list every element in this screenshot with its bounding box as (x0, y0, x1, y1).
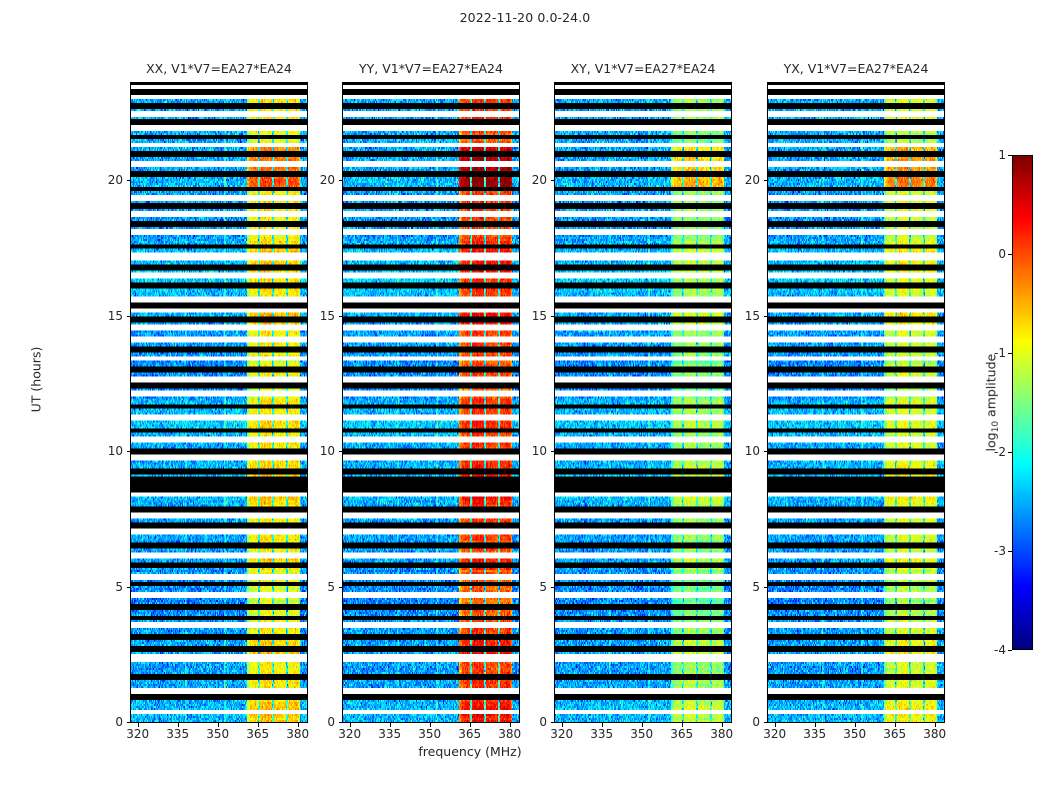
y-tick-label: 20 (727, 173, 760, 187)
y-tick-mark (764, 180, 768, 181)
y-tick-label: 10 (302, 444, 335, 458)
x-axis-label: frequency (MHz) (0, 744, 940, 759)
figure-canvas: 2022-11-20 0.0-24.0 XX, V1*V7=EA27*EA24 … (0, 0, 1050, 800)
waterfall-panel-yx[interactable] (767, 82, 945, 723)
x-tick-label: 350 (418, 727, 441, 741)
colorbar-tick-label: -3 (972, 544, 1006, 558)
y-tick-mark (551, 180, 555, 181)
y-tick-mark (551, 587, 555, 588)
colorbar-tick-mark (1008, 452, 1012, 453)
colorbar-tick-label: 0 (972, 247, 1006, 261)
y-tick-mark (764, 451, 768, 452)
x-tick-label: 320 (763, 727, 786, 741)
x-tick-label: 365 (883, 727, 906, 741)
y-tick-mark (127, 180, 131, 181)
y-tick-label: 5 (90, 580, 123, 594)
y-tick-label: 0 (727, 715, 760, 729)
x-tick-label: 335 (378, 727, 401, 741)
y-tick-label: 10 (514, 444, 547, 458)
x-tick-label: 335 (166, 727, 189, 741)
colorbar-tick-mark (1008, 650, 1012, 651)
y-tick-mark (127, 587, 131, 588)
panel-title-yx: YX, V1*V7=EA27*EA24 (767, 60, 945, 77)
y-tick-mark (551, 316, 555, 317)
y-tick-mark (127, 316, 131, 317)
panel-title-yy: YY, V1*V7=EA27*EA24 (342, 60, 520, 77)
y-tick-mark (764, 316, 768, 317)
x-tick-label: 350 (843, 727, 866, 741)
y-tick-label: 10 (90, 444, 123, 458)
colorbar-tick-label: -4 (972, 643, 1006, 657)
y-tick-mark (339, 180, 343, 181)
colorbar-tick-mark (1008, 155, 1012, 156)
x-tick-label: 365 (246, 727, 269, 741)
y-tick-mark (339, 722, 343, 723)
y-tick-label: 15 (514, 309, 547, 323)
x-tick-label: 320 (126, 727, 149, 741)
y-tick-label: 5 (727, 580, 760, 594)
colorbar-tick-mark (1008, 551, 1012, 552)
y-tick-label: 15 (90, 309, 123, 323)
y-tick-label: 15 (302, 309, 335, 323)
x-tick-label: 350 (630, 727, 653, 741)
x-tick-label: 320 (338, 727, 361, 741)
y-tick-label: 5 (514, 580, 547, 594)
x-tick-label: 365 (670, 727, 693, 741)
waterfall-panel-xy[interactable] (554, 82, 732, 723)
x-tick-label: 320 (550, 727, 573, 741)
y-tick-mark (339, 451, 343, 452)
colorbar-tick-mark (1008, 353, 1012, 354)
colorbar-tick-mark (1008, 254, 1012, 255)
figure-suptitle: 2022-11-20 0.0-24.0 (0, 10, 1050, 25)
y-tick-mark (339, 587, 343, 588)
waterfall-panel-xx[interactable] (130, 82, 308, 723)
x-tick-label: 335 (803, 727, 826, 741)
colorbar-tick-label: 1 (972, 148, 1006, 162)
x-tick-label: 335 (590, 727, 613, 741)
y-tick-label: 15 (727, 309, 760, 323)
x-tick-label: 380 (923, 727, 946, 741)
x-tick-label: 380 (710, 727, 733, 741)
y-tick-mark (764, 587, 768, 588)
y-tick-label: 0 (514, 715, 547, 729)
y-tick-label: 0 (90, 715, 123, 729)
y-axis-label: UT (hours) (29, 310, 44, 450)
y-tick-mark (764, 722, 768, 723)
y-tick-label: 0 (302, 715, 335, 729)
y-tick-mark (551, 722, 555, 723)
y-tick-mark (551, 451, 555, 452)
y-tick-mark (339, 316, 343, 317)
y-tick-label: 20 (302, 173, 335, 187)
x-tick-label: 350 (206, 727, 229, 741)
waterfall-panel-yy[interactable] (342, 82, 520, 723)
y-tick-label: 20 (90, 173, 123, 187)
x-tick-label: 365 (458, 727, 481, 741)
y-tick-label: 5 (302, 580, 335, 594)
panel-title-xy: XY, V1*V7=EA27*EA24 (554, 60, 732, 77)
x-tick-label: 380 (498, 727, 521, 741)
y-tick-label: 20 (514, 173, 547, 187)
x-tick-label: 380 (286, 727, 309, 741)
panel-title-xx: XX, V1*V7=EA27*EA24 (130, 60, 308, 77)
y-tick-label: 10 (727, 444, 760, 458)
y-tick-mark (127, 451, 131, 452)
colorbar (1012, 155, 1033, 650)
colorbar-label: log10 amplitude (983, 342, 1000, 462)
y-tick-mark (127, 722, 131, 723)
